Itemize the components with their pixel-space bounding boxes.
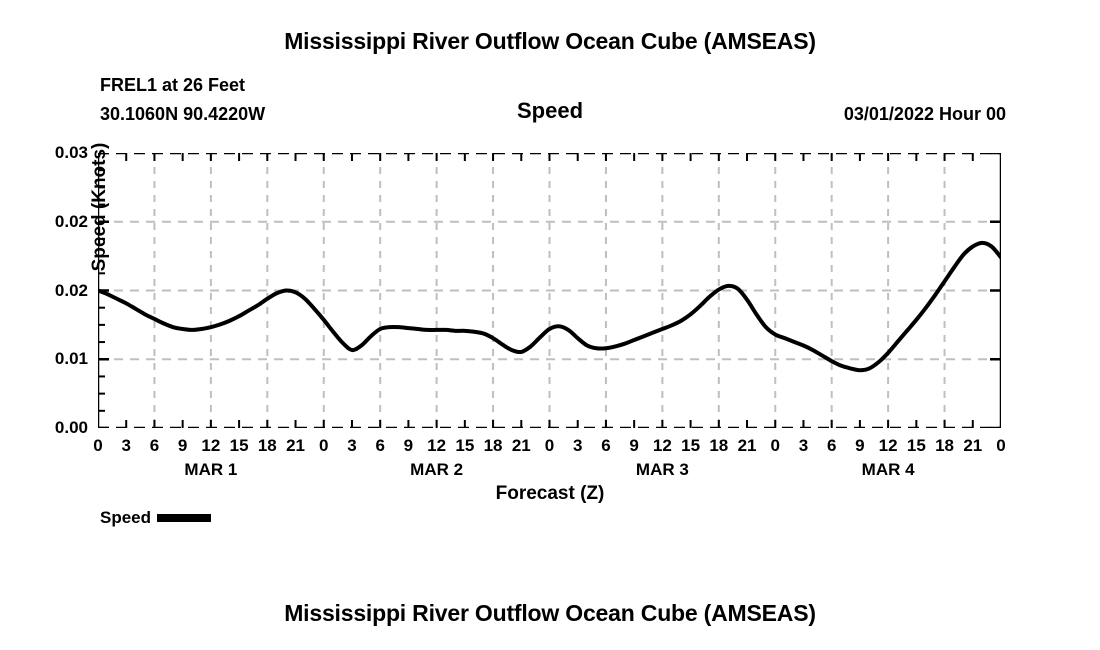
y-tick-label: 0.02 xyxy=(26,213,88,230)
chart-title-top: Mississippi River Outflow Ocean Cube (AM… xyxy=(0,28,1100,55)
x-tick-label: 15 xyxy=(676,437,706,454)
x-tick-label: 9 xyxy=(619,437,649,454)
model-run-label: 03/01/2022 Hour 00 xyxy=(844,104,1006,125)
x-tick-label: 12 xyxy=(422,437,452,454)
x-tick-label: 0 xyxy=(535,437,565,454)
x-tick-label: 18 xyxy=(252,437,282,454)
x-tick-label: 9 xyxy=(168,437,198,454)
x-tick-label: 9 xyxy=(845,437,875,454)
x-tick-label: 12 xyxy=(647,437,677,454)
x-tick-label: 3 xyxy=(563,437,593,454)
y-tick-label: 0.01 xyxy=(26,350,88,367)
x-tick-label: 18 xyxy=(930,437,960,454)
x-tick-label: 12 xyxy=(873,437,903,454)
x-tick-label: 3 xyxy=(111,437,141,454)
chart-title-bottom: Mississippi River Outflow Ocean Cube (AM… xyxy=(0,600,1100,627)
x-day-label: MAR 1 xyxy=(151,460,271,480)
x-tick-label: 21 xyxy=(958,437,988,454)
legend-line-swatch xyxy=(157,514,211,522)
chart-page: Mississippi River Outflow Ocean Cube (AM… xyxy=(0,0,1100,650)
y-tick-label: 0.03 xyxy=(26,144,88,161)
x-day-label: MAR 3 xyxy=(602,460,722,480)
x-tick-label: 6 xyxy=(139,437,169,454)
x-tick-label: 0 xyxy=(309,437,339,454)
legend-item-label: Speed xyxy=(100,508,151,528)
x-tick-label: 15 xyxy=(450,437,480,454)
x-tick-label: 15 xyxy=(901,437,931,454)
x-tick-label: 15 xyxy=(224,437,254,454)
station-label: FREL1 at 26 Feet xyxy=(100,75,245,96)
x-day-label: MAR 2 xyxy=(377,460,497,480)
x-tick-label: 0 xyxy=(83,437,113,454)
x-tick-label: 21 xyxy=(281,437,311,454)
x-tick-label: 21 xyxy=(506,437,536,454)
x-tick-label: 3 xyxy=(788,437,818,454)
x-tick-label: 12 xyxy=(196,437,226,454)
y-tick-label: 0.02 xyxy=(26,282,88,299)
x-tick-label: 18 xyxy=(478,437,508,454)
plot-area xyxy=(98,153,1001,428)
x-tick-label: 6 xyxy=(591,437,621,454)
chart-legend: Speed xyxy=(100,508,211,528)
x-day-label: MAR 4 xyxy=(828,460,948,480)
x-tick-label: 18 xyxy=(704,437,734,454)
x-tick-label: 6 xyxy=(365,437,395,454)
y-axis-tick-labels: 0.030.020.020.010.00 xyxy=(26,0,88,650)
x-tick-label: 9 xyxy=(393,437,423,454)
x-axis-title: Forecast (Z) xyxy=(0,483,1100,505)
x-tick-label: 3 xyxy=(337,437,367,454)
x-tick-label: 0 xyxy=(760,437,790,454)
speed-line-chart xyxy=(98,153,1001,428)
x-tick-label: 6 xyxy=(817,437,847,454)
x-tick-label: 0 xyxy=(986,437,1016,454)
x-tick-label: 21 xyxy=(732,437,762,454)
y-tick-label: 0.00 xyxy=(26,419,88,436)
